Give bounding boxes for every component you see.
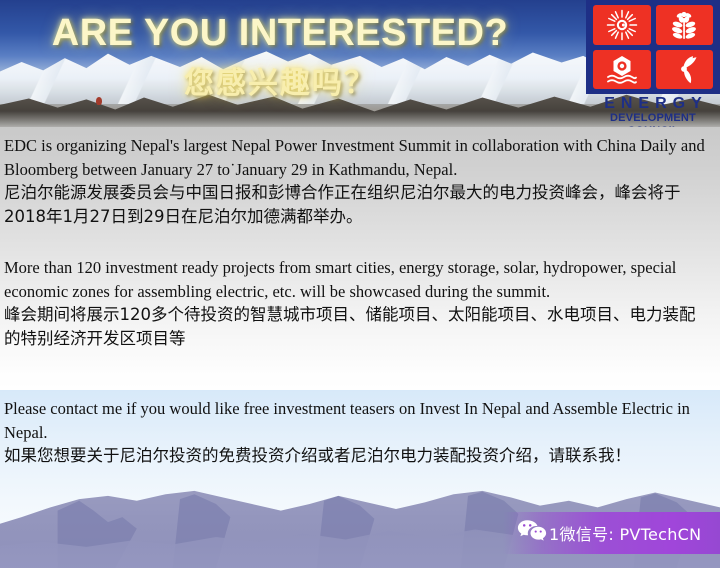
- edc-logo: ENERGY DEVELOPMENT COUNCIL: [586, 0, 720, 127]
- paragraph3-chinese: 如果您想要关于尼泊尔投资的免费投资介绍或者尼泊尔电力装配投资介绍，请联系我！: [4, 444, 710, 468]
- paragraph-summit-announcement: EDC is organizing Nepal's largest Nepal …: [4, 134, 710, 228]
- wechat-icon: [517, 519, 547, 548]
- hydro-icon: [605, 52, 639, 86]
- logo-cell-wind: [656, 50, 714, 90]
- slide-canvas: ARE YOU INTERESTED? 您感兴趣吗？: [0, 0, 720, 568]
- sun-icon: [605, 8, 639, 42]
- logo-cell-solar: [593, 5, 651, 45]
- paragraph-projects: More than 120 investment ready projects …: [4, 256, 710, 350]
- logo-cell-biomass: [656, 5, 714, 45]
- logo-frame: [586, 0, 720, 94]
- headline-text-chinese: 您感兴趣吗？: [0, 58, 560, 102]
- logo-wordmark-line1: ENERGY: [586, 95, 720, 112]
- plant-icon: [667, 8, 701, 42]
- paragraph2-chinese: 峰会期间将展示120多个待投资的智慧城市项目、储能项目、太阳能项目、水电项目、电…: [4, 303, 710, 350]
- wechat-watermark-badge: 1微信号: PVTechCN: [503, 512, 720, 554]
- paragraph2-english: More than 120 investment ready projects …: [4, 256, 710, 303]
- paragraph-contact: Please contact me if you would like free…: [4, 397, 710, 468]
- wind-turbine-icon: [667, 52, 701, 86]
- paragraph3-english: Please contact me if you would like free…: [4, 397, 710, 444]
- headline-text: ARE YOU INTERESTED?: [0, 12, 560, 55]
- logo-cell-hydropower: [593, 50, 651, 90]
- paragraph1-chinese: 尼泊尔能源发展委员会与中国日报和彭博合作正在组织尼泊尔最大的电力投资峰会，峰会将…: [4, 181, 710, 228]
- logo-icon-grid: [593, 5, 713, 89]
- paragraph1-english: EDC is organizing Nepal's largest Nepal …: [4, 134, 710, 181]
- watermark-text: 1微信号: PVTechCN: [549, 521, 701, 545]
